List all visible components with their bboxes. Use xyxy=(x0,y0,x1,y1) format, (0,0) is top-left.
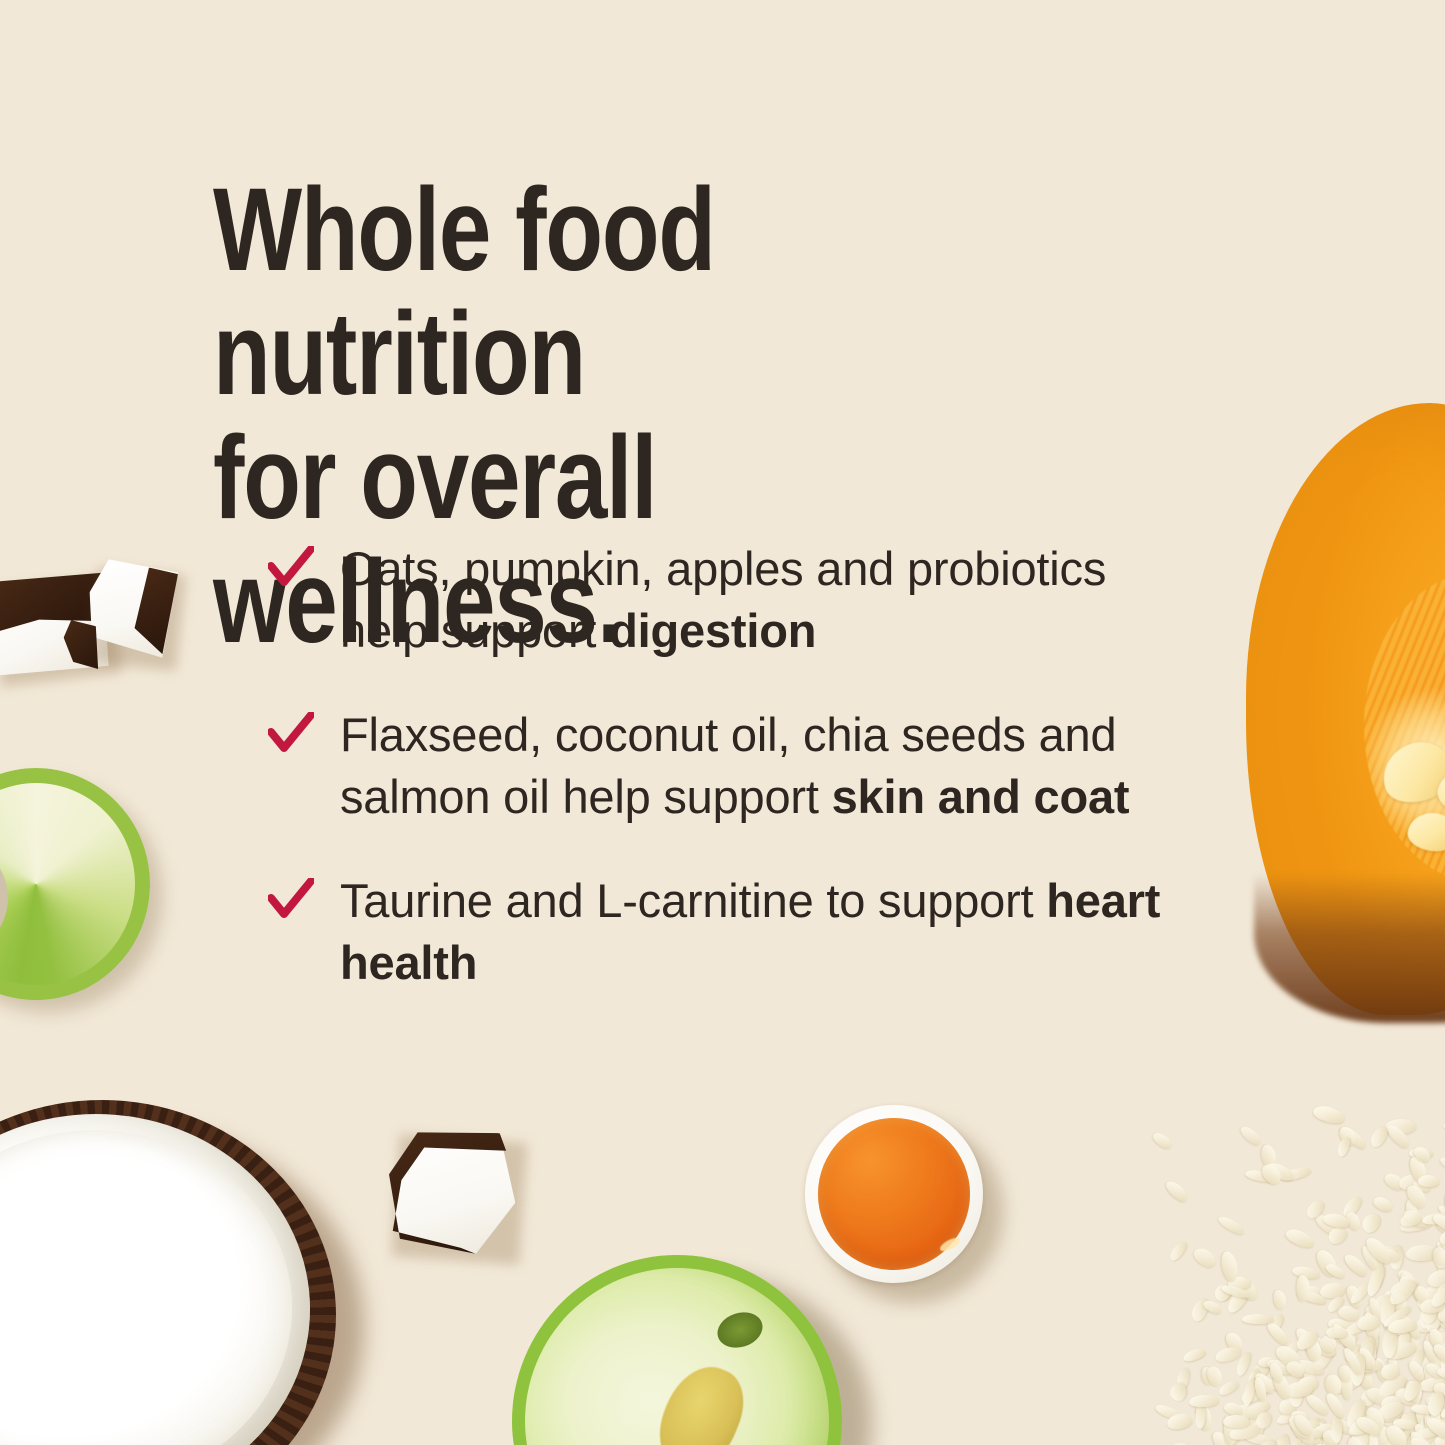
oat-flake xyxy=(1217,1213,1247,1236)
list-item: Taurine and L-carnitine to support heart… xyxy=(268,870,1198,994)
pumpkin-half-image xyxy=(1246,403,1445,1015)
benefits-list: Oats, pumpkin, apples and probiotics hel… xyxy=(268,538,1198,994)
oat-flake xyxy=(1325,1326,1347,1338)
coconut-half-image xyxy=(0,1100,336,1445)
oat-flake xyxy=(1169,1382,1186,1402)
green-apple-half-image xyxy=(512,1255,842,1445)
check-icon xyxy=(268,546,314,588)
oat-flake xyxy=(1191,1245,1219,1271)
list-item-emphasis: skin and coat xyxy=(832,770,1130,823)
check-icon xyxy=(268,712,314,754)
oat-flake xyxy=(1168,1441,1192,1445)
oat-flake xyxy=(1163,1178,1190,1204)
oat-flake xyxy=(1432,1247,1445,1266)
check-icon xyxy=(268,878,314,920)
oat-flake xyxy=(1438,1154,1445,1175)
oat-flake xyxy=(1242,1314,1274,1324)
oat-flake xyxy=(1238,1123,1263,1147)
oat-flake xyxy=(1168,1239,1189,1263)
oat-flake xyxy=(1312,1103,1346,1126)
oat-flake xyxy=(1182,1346,1207,1363)
rolled-oats-image xyxy=(1135,1075,1445,1445)
pumpkin-rind-shadow xyxy=(1254,873,1445,1023)
oat-flake xyxy=(1150,1130,1174,1151)
list-item: Flaxseed, coconut oil, chia seeds and sa… xyxy=(268,704,1198,828)
list-item-emphasis: digestion xyxy=(609,604,816,657)
list-item-text: Taurine and L-carnitine to support xyxy=(340,874,1046,927)
oat-flake xyxy=(1324,1262,1347,1281)
salmon-oil-bowl-image xyxy=(805,1105,983,1283)
oat-flake xyxy=(1283,1226,1316,1251)
list-item: Oats, pumpkin, apples and probiotics hel… xyxy=(268,538,1198,662)
promo-banner: Whole food nutrition for overall wellnes… xyxy=(0,0,1445,1445)
oat-flake xyxy=(1336,1136,1353,1158)
oat-flake xyxy=(1418,1175,1440,1188)
coconut-fragment-bottom xyxy=(384,1126,520,1257)
oat-flake xyxy=(1272,1289,1287,1311)
oat-flake xyxy=(1331,1418,1342,1443)
oat-flake xyxy=(1372,1194,1395,1214)
oat-flake xyxy=(1359,1210,1383,1236)
oat-flake xyxy=(1189,1394,1219,1407)
green-apple-slice-image xyxy=(0,768,150,1000)
